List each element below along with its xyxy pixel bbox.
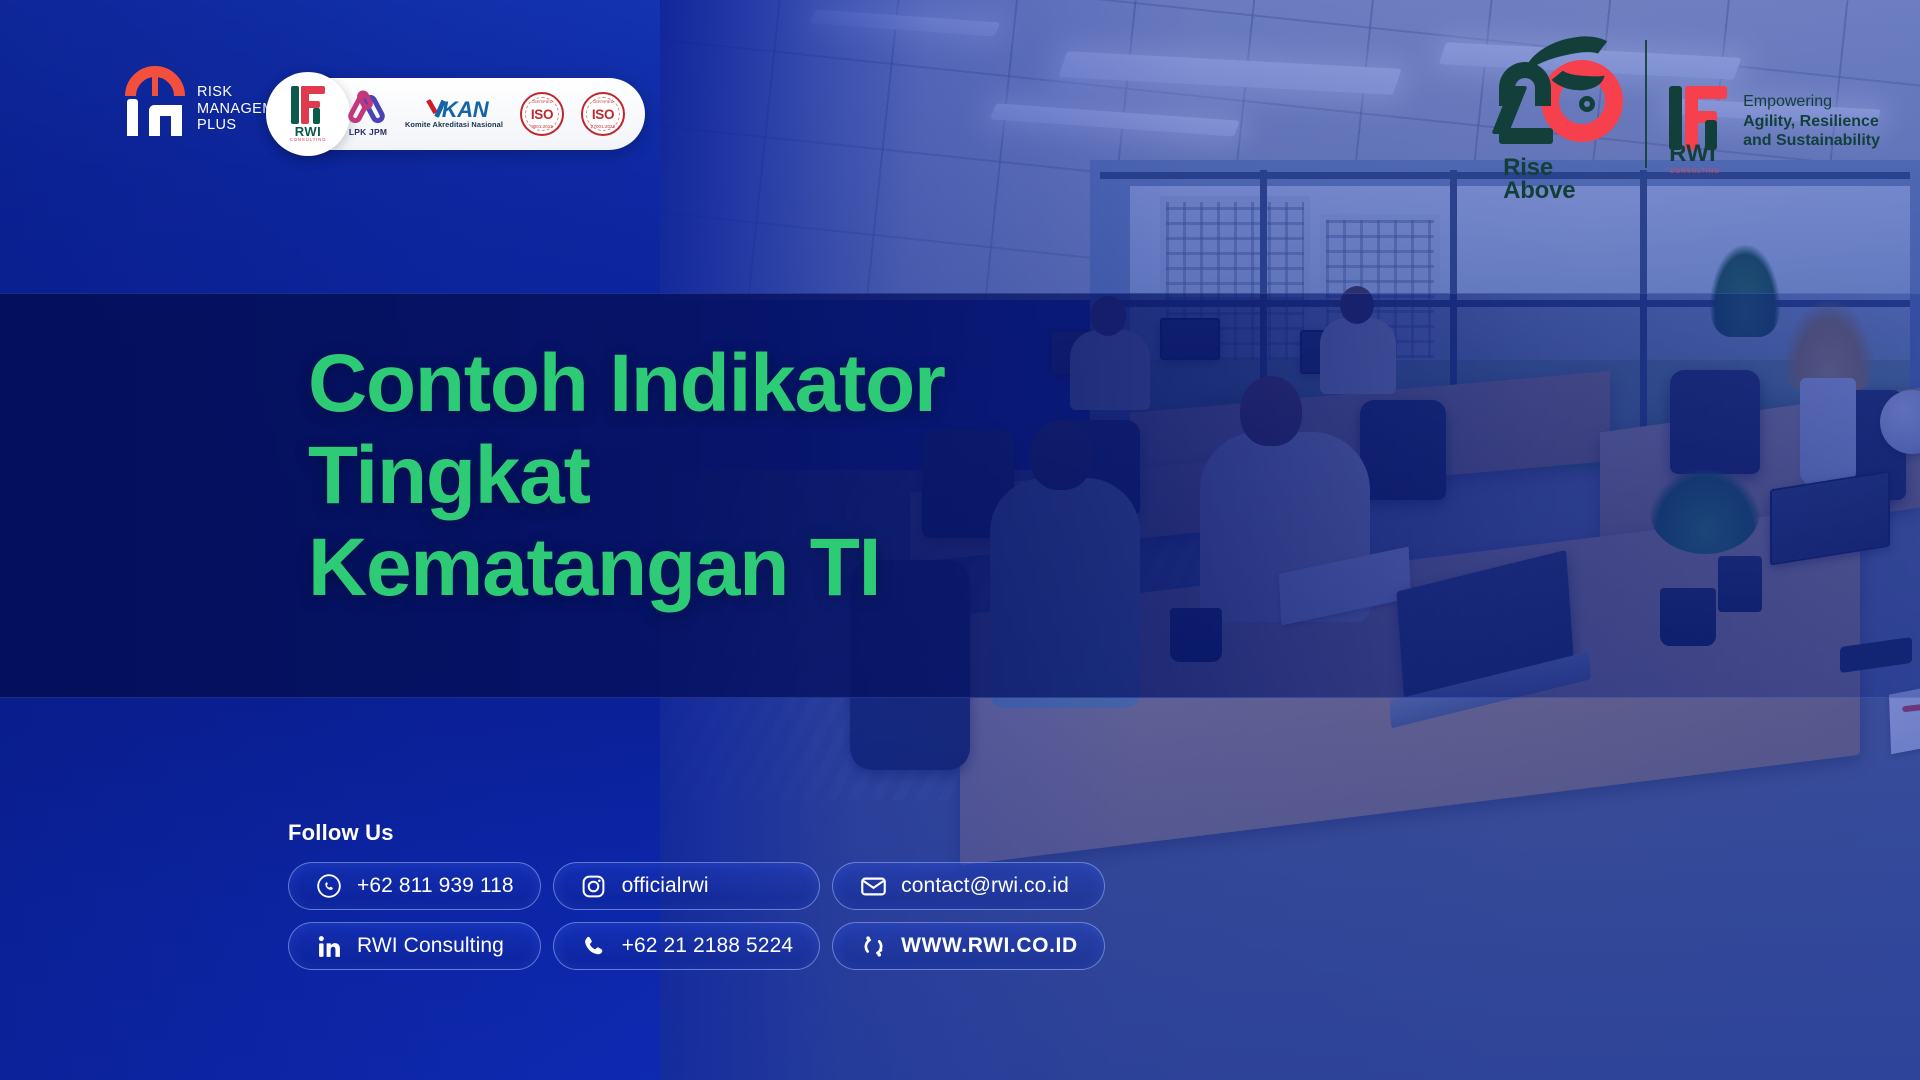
certification-bar: RWI CONSULTING LPK JPM KAN Komite Akredi… <box>272 78 645 150</box>
rwi-logo: RWI CONSULTING <box>1669 86 1729 164</box>
iso-1-top: CERTIFIED <box>522 99 562 104</box>
rwi-logo-word: RWI <box>1669 142 1716 166</box>
anniversary-caption: Rise Above <box>1503 156 1575 202</box>
above-text: Above <box>1503 179 1575 202</box>
cert-lpk-jpm: LPK JPM <box>348 92 388 137</box>
cert-kan: KAN Komite Akreditasi Nasional <box>405 100 503 129</box>
rwi-glyph-icon <box>291 86 325 124</box>
follow-us-label: Follow Us <box>288 820 394 846</box>
contact-whatsapp[interactable]: +62 811 939 118 <box>288 862 541 910</box>
iso-2-top: CERTIFIED <box>583 99 623 104</box>
headline-line-1: Contoh Indikator <box>308 338 1308 430</box>
tagline-line-2: Agility, Resilience <box>1743 112 1880 132</box>
rwi-logo-sub: CONSULTING <box>1670 169 1720 175</box>
anniversary-lockup: Rise Above RWI CONSULTING Empowering Agi… <box>1493 34 1880 184</box>
rmp-m-glyph <box>127 99 183 136</box>
iso-2-label: ISO <box>592 107 614 122</box>
rmp-arc-icon <box>125 66 185 96</box>
rmp-logo-mark <box>124 66 186 136</box>
email-icon <box>859 872 887 900</box>
phone-icon <box>580 932 608 960</box>
instagram-icon <box>580 872 608 900</box>
rwi-tagline: Empowering Agility, Resilience and Susta… <box>1743 86 1880 151</box>
contact-linkedin-label: RWI Consulting <box>357 934 504 958</box>
contact-pill-grid: +62 811 939 118 officialrwi contact@rwi.… <box>288 862 1105 970</box>
contact-website-label: WWW.RWI.CO.ID <box>901 934 1078 958</box>
rwi-badge-word: RWI <box>295 125 322 138</box>
kan-label: KAN <box>442 100 488 120</box>
tagline-line-3: and Sustainability <box>1743 131 1880 151</box>
headline-line-3: Kematangan TI <box>308 522 1308 614</box>
headline-line-2: Tingkat <box>308 430 1308 522</box>
iso-1-label: ISO <box>531 107 553 122</box>
contact-phone[interactable]: +62 21 2188 5224 <box>553 922 821 970</box>
lpk-jpm-label: LPK JPM <box>349 127 387 137</box>
linkedin-icon <box>315 932 343 960</box>
anniversary-20-logo: Rise Above <box>1493 34 1623 184</box>
iso-badge-1: CERTIFIED ISO 9001:2015 <box>520 92 564 136</box>
contact-instagram[interactable]: officialrwi <box>553 862 821 910</box>
anniversary-dot <box>1579 96 1595 112</box>
rwi-badge-sub: CONSULTING <box>290 138 327 143</box>
rise-text: Rise <box>1503 156 1575 179</box>
lockup-divider <box>1645 40 1647 168</box>
iso-2-standard: 27001:2022 <box>583 124 623 129</box>
whatsapp-icon <box>315 872 343 900</box>
contact-whatsapp-label: +62 811 939 118 <box>357 874 514 898</box>
kan-check-icon <box>420 100 440 120</box>
contact-linkedin[interactable]: RWI Consulting <box>288 922 541 970</box>
lpk-jpm-icon <box>348 92 388 126</box>
contact-website[interactable]: WWW.RWI.CO.ID <box>832 922 1105 970</box>
website-icon <box>859 932 887 960</box>
contact-email[interactable]: contact@rwi.co.id <box>832 862 1105 910</box>
iso-1-standard: 9001:2015 <box>522 124 562 129</box>
rwi-circle-badge: RWI CONSULTING <box>266 72 350 156</box>
page-title: Contoh Indikator Tingkat Kematangan TI <box>308 338 1308 613</box>
slide-canvas: RISK MANAGEMENT PLUS RWI CONSULTING LPK … <box>0 0 1920 1080</box>
contact-email-label: contact@rwi.co.id <box>901 874 1069 898</box>
kan-sublabel: Komite Akreditasi Nasional <box>405 120 503 129</box>
tagline-line-1: Empowering <box>1743 92 1880 112</box>
iso-badge-2: CERTIFIED ISO 27001:2022 <box>581 92 625 136</box>
contact-instagram-label: officialrwi <box>622 874 709 898</box>
contact-phone-label: +62 21 2188 5224 <box>622 934 794 958</box>
